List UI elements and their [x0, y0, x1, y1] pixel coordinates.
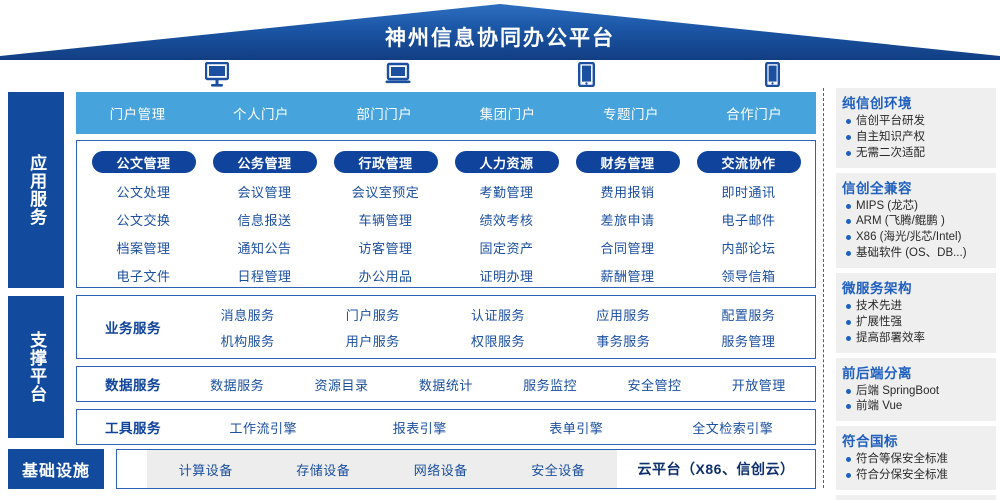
- application-item[interactable]: 薪酬管理: [600, 266, 654, 285]
- business-service-item[interactable]: 门户服务: [346, 305, 400, 324]
- business-service-item[interactable]: 应用服务: [596, 305, 650, 324]
- infrastructure-item[interactable]: 安全设备: [500, 460, 618, 479]
- portal-item[interactable]: 部门门户: [323, 103, 446, 123]
- bullet-icon: [846, 320, 851, 325]
- portal-item[interactable]: 个人门户: [199, 103, 322, 123]
- data-service-item[interactable]: 资源目录: [289, 375, 393, 394]
- feature-item-label: 扩展性强: [856, 315, 902, 331]
- feature-card: 纯信创环境信创平台研发自主知识产权无需二次适配: [836, 88, 996, 168]
- portal-item[interactable]: 合作门户: [693, 103, 816, 123]
- application-item[interactable]: 绩效考核: [479, 210, 533, 229]
- application-item[interactable]: 档案管理: [116, 238, 170, 257]
- feature-card-title: 符合国标: [842, 430, 990, 450]
- bullet-icon: [846, 304, 851, 309]
- data-services-panel: 数据服务 数据服务资源目录数据统计服务监控安全管控开放管理: [76, 366, 816, 402]
- features-sidebar: 纯信创环境信创平台研发自主知识产权无需二次适配信创全兼容MIPS (龙芯)ARM…: [836, 88, 996, 500]
- business-service-column: 消息服务机构服务: [185, 305, 310, 350]
- rail-label-infrastructure: 基础设施: [8, 449, 104, 489]
- business-service-item[interactable]: 用户服务: [346, 331, 400, 350]
- application-item[interactable]: 访客管理: [358, 238, 412, 257]
- business-service-item[interactable]: 服务管理: [721, 331, 775, 350]
- architecture-diagram: 神州信息协同办公平台: [0, 0, 1000, 500]
- feature-list-item: MIPS (龙芯): [842, 199, 990, 215]
- bullet-icon: [846, 389, 851, 394]
- feature-item-label: X86 (海光/兆芯/Intel): [856, 230, 961, 246]
- feature-item-label: 符合分保安全标准: [856, 468, 948, 484]
- business-services-panel: 业务服务 消息服务机构服务门户服务用户服务认证服务权限服务应用服务事务服务配置服…: [76, 295, 816, 359]
- portal-item[interactable]: 专题门户: [569, 103, 692, 123]
- platform-roof-banner: 神州信息协同办公平台: [0, 0, 1000, 62]
- feature-card: 接口丰富开放API管理: [836, 495, 996, 500]
- tool-service-item[interactable]: 表单引擎: [498, 418, 655, 437]
- bullet-icon: [846, 219, 851, 224]
- application-item[interactable]: 日程管理: [237, 266, 291, 285]
- tool-service-item[interactable]: 全文检索引擎: [655, 418, 812, 437]
- feature-card: 前后端分离后端 SpringBoot前端 Vue: [836, 358, 996, 422]
- feature-card-title: 微服务架构: [842, 277, 990, 297]
- category-pill[interactable]: 行政管理: [334, 151, 438, 173]
- application-item[interactable]: 通知公告: [237, 238, 291, 257]
- application-item[interactable]: 固定资产: [479, 238, 533, 257]
- rail-label-support-platform: 支撑平台: [8, 296, 64, 438]
- application-item[interactable]: 内部论坛: [721, 238, 775, 257]
- business-service-item[interactable]: 消息服务: [221, 305, 275, 324]
- category-pill[interactable]: 财务管理: [576, 151, 680, 173]
- bullet-icon: [846, 336, 851, 341]
- business-service-column: 应用服务事务服务: [561, 305, 686, 350]
- feature-item-label: 技术先进: [856, 299, 902, 315]
- feature-list-item: 自主知识产权: [842, 130, 990, 146]
- bullet-icon: [846, 204, 851, 209]
- data-service-item[interactable]: 数据统计: [394, 375, 498, 394]
- bullet-icon: [846, 135, 851, 140]
- desktop-monitor-icon: [205, 62, 229, 88]
- portal-item[interactable]: 门户管理: [76, 103, 199, 123]
- feature-card: 微服务架构技术先进扩展性强提高部署效率: [836, 273, 996, 353]
- application-item[interactable]: 会议室预定: [352, 182, 420, 201]
- main-column: 门户管理个人门户部门门户集团门户专题门户合作门户 公文管理公文处理公文交换档案管…: [76, 92, 816, 445]
- bullet-icon: [846, 235, 851, 240]
- feature-item-label: 提高部署效率: [856, 331, 925, 347]
- bullet-icon: [846, 151, 851, 156]
- feature-item-label: 信创平台研发: [856, 114, 925, 130]
- data-services-label: 数据服务: [81, 374, 185, 394]
- business-service-column: 认证服务权限服务: [435, 305, 560, 350]
- bullet-icon: [846, 473, 851, 478]
- application-item[interactable]: 公文处理: [116, 182, 170, 201]
- application-category-column: 行政管理会议室预定车辆管理访客管理办公用品: [325, 151, 446, 285]
- tablet-icon: [578, 62, 595, 87]
- cloud-platform-label: 云平台（X86、信创云）: [617, 459, 815, 479]
- business-service-item[interactable]: 权限服务: [471, 331, 525, 350]
- feature-card-title: 信创全兼容: [842, 177, 990, 197]
- feature-list-item: 基础软件 (OS、DB...): [842, 246, 990, 262]
- laptop-icon: [385, 62, 411, 86]
- bullet-icon: [846, 119, 851, 124]
- page-title: 神州信息协同办公平台: [0, 22, 1000, 52]
- business-service-item[interactable]: 事务服务: [596, 331, 650, 350]
- feature-item-label: 符合等保安全标准: [856, 452, 948, 468]
- mobile-phone-icon: [765, 62, 780, 87]
- feature-item-label: ARM (飞腾/鲲鹏 ): [856, 214, 945, 230]
- tool-service-item[interactable]: 报表引擎: [342, 418, 499, 437]
- data-service-item[interactable]: 安全管控: [602, 375, 706, 394]
- business-service-item[interactable]: 机构服务: [221, 331, 275, 350]
- feature-list-item: 信创平台研发: [842, 114, 990, 130]
- category-pill[interactable]: 公文管理: [92, 151, 196, 173]
- infrastructure-panel: 计算设备存储设备网络设备安全设备 云平台（X86、信创云）: [116, 449, 816, 489]
- application-item[interactable]: 会议管理: [237, 182, 291, 201]
- application-services-panel: 公文管理公文处理公文交换档案管理电子文件公务管理会议管理信息报送通知公告日程管理…: [76, 140, 816, 288]
- vertical-dashed-divider: [823, 88, 824, 488]
- application-category-column: 公务管理会议管理信息报送通知公告日程管理: [204, 151, 325, 285]
- business-services-label: 业务服务: [81, 317, 185, 337]
- feature-item-label: MIPS (龙芯): [856, 199, 918, 215]
- tool-service-item[interactable]: 工作流引擎: [185, 418, 342, 437]
- business-service-item[interactable]: 配置服务: [721, 305, 775, 324]
- application-category-column: 公文管理公文处理公文交换档案管理电子文件: [83, 151, 204, 285]
- device-icon-row: [0, 62, 830, 90]
- feature-list-item: 提高部署效率: [842, 331, 990, 347]
- feature-card: 信创全兼容MIPS (龙芯)ARM (飞腾/鲲鹏 )X86 (海光/兆芯/Int…: [836, 173, 996, 268]
- feature-list-item: 技术先进: [842, 299, 990, 315]
- feature-list-item: 扩展性强: [842, 315, 990, 331]
- category-pill[interactable]: 公务管理: [213, 151, 317, 173]
- feature-item-label: 基础软件 (OS、DB...): [856, 246, 967, 262]
- rail-label-application-services: 应用服务: [8, 92, 64, 288]
- application-item[interactable]: 费用报销: [600, 182, 654, 201]
- tools-services-panel: 工具服务 工作流引擎报表引擎表单引擎全文检索引擎: [76, 409, 816, 445]
- application-item[interactable]: 信息报送: [237, 210, 291, 229]
- application-item[interactable]: 公文交换: [116, 210, 170, 229]
- category-pill[interactable]: 人力资源: [455, 151, 559, 173]
- category-pill[interactable]: 交流协作: [697, 151, 801, 173]
- feature-list-item: ARM (飞腾/鲲鹏 ): [842, 214, 990, 230]
- portal-bar: 门户管理个人门户部门门户集团门户专题门户合作门户: [76, 92, 816, 134]
- feature-card-title: 前后端分离: [842, 362, 990, 382]
- feature-item-label: 前端 Vue: [856, 399, 902, 415]
- application-item[interactable]: 证明办理: [479, 266, 533, 285]
- feature-list-item: 后端 SpringBoot: [842, 384, 990, 400]
- application-category-column: 人力资源考勤管理绩效考核固定资产证明办理: [446, 151, 567, 285]
- application-item[interactable]: 办公用品: [358, 266, 412, 285]
- application-item[interactable]: 合同管理: [600, 238, 654, 257]
- feature-list-item: 前端 Vue: [842, 399, 990, 415]
- application-item[interactable]: 即时通讯: [721, 182, 775, 201]
- feature-list-item: 符合等保安全标准: [842, 452, 990, 468]
- feature-item-label: 后端 SpringBoot: [856, 384, 939, 400]
- feature-list-item: 符合分保安全标准: [842, 468, 990, 484]
- feature-list-item: 无需二次适配: [842, 146, 990, 162]
- data-service-item[interactable]: 数据服务: [185, 375, 289, 394]
- bullet-icon: [846, 251, 851, 256]
- application-item[interactable]: 领导信箱: [721, 266, 775, 285]
- feature-list-item: X86 (海光/兆芯/Intel): [842, 230, 990, 246]
- portal-item[interactable]: 集团门户: [446, 103, 569, 123]
- bullet-icon: [846, 404, 851, 409]
- feature-card: 符合国标符合等保安全标准符合分保安全标准: [836, 426, 996, 490]
- business-service-column: 配置服务服务管理: [686, 305, 811, 350]
- business-service-item[interactable]: 认证服务: [471, 305, 525, 324]
- application-item[interactable]: 电子邮件: [721, 210, 775, 229]
- data-service-item[interactable]: 开放管理: [707, 375, 811, 394]
- application-item[interactable]: 差旅申请: [600, 210, 654, 229]
- application-item[interactable]: 车辆管理: [358, 210, 412, 229]
- infrastructure-item[interactable]: 存储设备: [265, 460, 383, 479]
- application-item[interactable]: 考勤管理: [479, 182, 533, 201]
- business-service-column: 门户服务用户服务: [310, 305, 435, 350]
- application-category-column: 财务管理费用报销差旅申请合同管理薪酬管理: [567, 151, 688, 285]
- application-category-column: 交流协作即时通讯电子邮件内部论坛领导信箱: [688, 151, 809, 285]
- data-service-item[interactable]: 服务监控: [498, 375, 602, 394]
- feature-item-label: 自主知识产权: [856, 130, 925, 146]
- feature-item-label: 无需二次适配: [856, 146, 925, 162]
- infrastructure-item[interactable]: 网络设备: [382, 460, 500, 479]
- feature-card-title: 纯信创环境: [842, 92, 990, 112]
- bullet-icon: [846, 457, 851, 462]
- tools-services-label: 工具服务: [81, 417, 185, 437]
- infrastructure-item[interactable]: 计算设备: [147, 460, 265, 479]
- application-item[interactable]: 电子文件: [116, 266, 170, 285]
